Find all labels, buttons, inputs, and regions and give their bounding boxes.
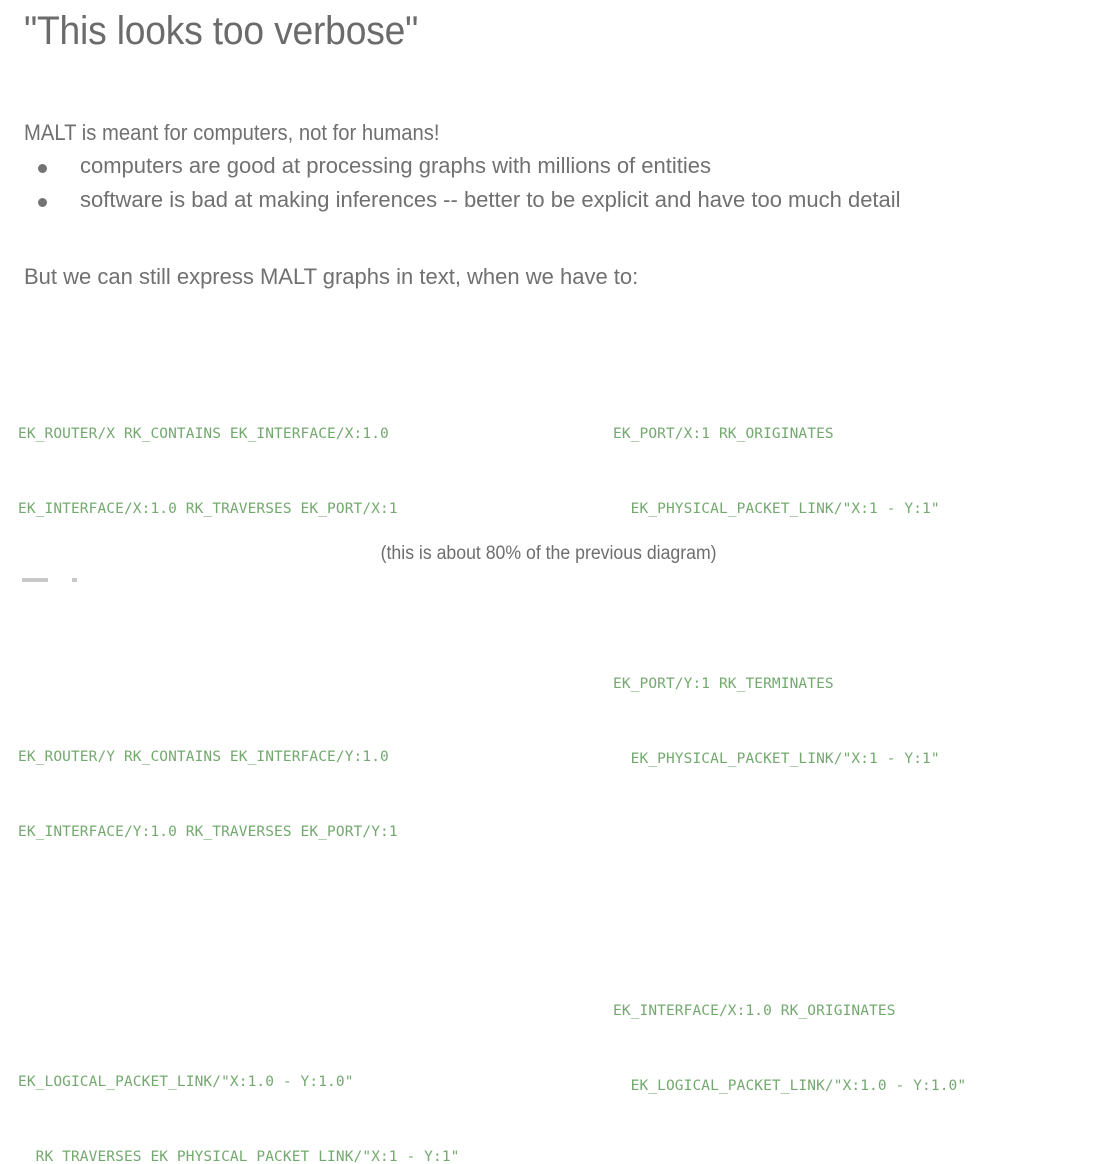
code-block-router-y: EK_ROUTER/Y RK_CONTAINS EK_INTERFACE/Y:1… <box>18 695 460 895</box>
bullet-dot-icon <box>38 198 47 207</box>
crop-artifact-mark <box>72 578 77 582</box>
prose-block: MALT is meant for computers, not for hum… <box>24 122 1074 211</box>
code-block-gap <box>18 945 460 970</box>
code-line: EK_PORT/Y:1 RK_TERMINATES <box>613 672 975 697</box>
code-block-gap <box>18 622 460 645</box>
bullet-list: computers are good at processing graphs … <box>24 155 1074 211</box>
code-block-interface-x-originates: EK_INTERFACE/X:1.0 RK_ORIGINATES EK_LOGI… <box>613 949 975 1149</box>
code-block-port-x-originates: EK_PORT/X:1 RK_ORIGINATES EK_PHYSICAL_PA… <box>613 372 975 572</box>
list-item: computers are good at processing graphs … <box>24 155 1074 177</box>
slide-canvas: "This looks too verbose" MALT is meant f… <box>0 0 1098 582</box>
code-line: EK_ROUTER/Y RK_CONTAINS EK_INTERFACE/Y:1… <box>18 745 460 770</box>
code-block-port-y-terminates: EK_PORT/Y:1 RK_TERMINATES EK_PHYSICAL_PA… <box>613 622 975 822</box>
crop-artifact-mark <box>22 578 48 582</box>
followup-text: But we can still express MALT graphs in … <box>24 264 638 289</box>
bullet-dot-icon <box>38 164 47 173</box>
code-block-logical-link: EK_LOGICAL_PACKET_LINK/"X:1.0 - Y:1.0" R… <box>18 1020 460 1164</box>
code-line: EK_INTERFACE/X:1.0 RK_ORIGINATES <box>613 999 975 1024</box>
cropped-next-line-artifact <box>0 574 220 582</box>
code-line: RK_TRAVERSES EK_PHYSICAL_PACKET_LINK/"X:… <box>18 1145 460 1164</box>
code-column-right: EK_PORT/X:1 RK_ORIGINATES EK_PHYSICAL_PA… <box>613 322 975 1164</box>
slide-caption: (this is about 80% of the previous diagr… <box>0 543 1098 565</box>
bullet-text: computers are good at processing graphs … <box>80 153 711 178</box>
code-line: EK_LOGICAL_PACKET_LINK/"X:1.0 - Y:1.0" <box>613 1074 975 1099</box>
code-line: EK_INTERFACE/Y:1.0 RK_TRAVERSES EK_PORT/… <box>18 820 460 845</box>
code-line: EK_PORT/X:1 RK_ORIGINATES <box>613 422 975 447</box>
lead-statement: MALT is meant for computers, not for hum… <box>24 122 990 144</box>
list-item: software is bad at making inferences -- … <box>24 189 1074 211</box>
code-block-router-x: EK_ROUTER/X RK_CONTAINS EK_INTERFACE/X:1… <box>18 372 460 572</box>
code-listing-area: EK_ROUTER/X RK_CONTAINS EK_INTERFACE/X:1… <box>0 322 1098 538</box>
caption-text: (this is about 80% of the previous diagr… <box>381 543 717 565</box>
page-title: "This looks too verbose" <box>24 8 418 54</box>
code-line: EK_INTERFACE/X:1.0 RK_TRAVERSES EK_PORT/… <box>18 497 460 522</box>
code-block-gap <box>613 872 975 899</box>
code-line: EK_LOGICAL_PACKET_LINK/"X:1.0 - Y:1.0" <box>18 1070 460 1095</box>
followup-statement: But we can still express MALT graphs in … <box>24 266 638 288</box>
bullet-text: software is bad at making inferences -- … <box>80 187 901 212</box>
code-line: EK_PHYSICAL_PACKET_LINK/"X:1 - Y:1" <box>613 497 975 522</box>
code-line: EK_PHYSICAL_PACKET_LINK/"X:1 - Y:1" <box>613 747 975 772</box>
code-column-left: EK_ROUTER/X RK_CONTAINS EK_INTERFACE/X:1… <box>18 322 460 1164</box>
code-line: EK_ROUTER/X RK_CONTAINS EK_INTERFACE/X:1… <box>18 422 460 447</box>
